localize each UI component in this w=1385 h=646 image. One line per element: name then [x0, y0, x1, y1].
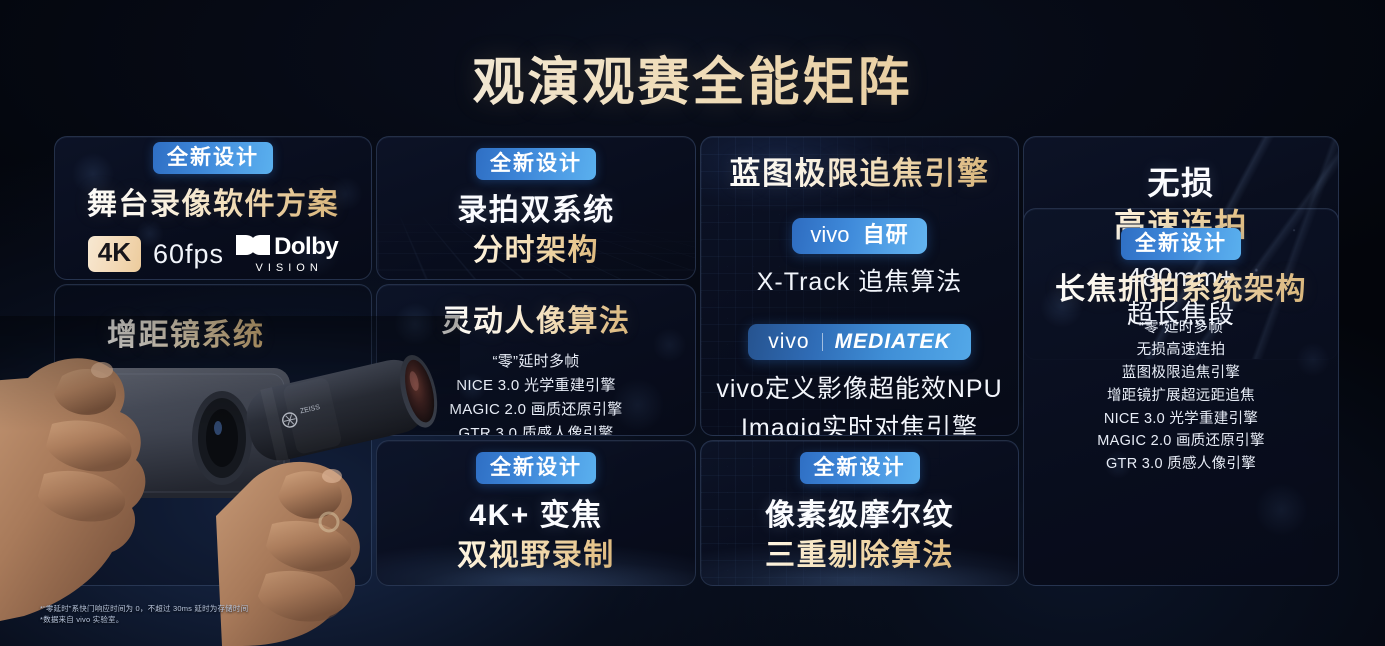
list-item: GTR 3.0 质感人像引擎: [1097, 453, 1265, 476]
list-item: 增距镜扩展超远距追焦: [1097, 385, 1265, 408]
card-title-focus-engine: 蓝图极限追焦引擎: [730, 155, 990, 194]
moire-line-2: 三重剔除算法: [765, 538, 954, 574]
badge-vivo-self-developed: vivo 自研: [792, 218, 926, 254]
badge-new-design: 全新设计: [153, 142, 273, 174]
footnote-line-1: *“零延时”系快门响应时间为 0，不超过 30ms 延时为存储时间: [40, 603, 248, 615]
badge-new-design: 全新设计: [800, 452, 920, 484]
list-item: NICE 3.0 光学重建引擎: [449, 374, 622, 398]
moire-line-1: 像素级摩尔纹: [765, 498, 954, 534]
self-developed-label: 自研: [863, 222, 909, 247]
card-tele-capture[interactable]: 全新设计 长焦抓拍系统架构 “零”延时多帧 无损高速连拍 蓝图极限追焦引擎 增距…: [1023, 208, 1339, 586]
card-title-portrait-algorithm: 灵动人像算法: [442, 303, 631, 341]
npu-label-1: vivo定义影像超能效NPU: [716, 373, 1002, 406]
list-item: MAGIC 2.0 画质还原引擎: [449, 398, 622, 422]
card-moire[interactable]: 全新设计 像素级摩尔纹 三重剔除算法: [700, 440, 1019, 586]
list-item: “零”延时多帧: [449, 350, 622, 374]
vivo-wordmark: vivo: [810, 222, 849, 247]
fps-label: 60fps: [153, 237, 224, 272]
feature-grid: 全新设计 舞台录像软件方案 4K 60fps: [54, 136, 1331, 594]
badge-new-design: 全新设计: [476, 452, 596, 484]
dolby-vision-logo: Dolby VISION: [236, 234, 338, 274]
list-item: 蓝图极限追焦引擎: [1097, 362, 1265, 385]
list-item: 无损高速连拍: [1097, 339, 1265, 362]
footnote: *“零延时”系快门响应时间为 0，不超过 30ms 延时为存储时间 *数据来自 …: [40, 603, 248, 626]
xtrack-algorithm-label: X-Track 追焦算法: [757, 266, 963, 299]
vivo-wordmark: vivo: [768, 331, 809, 352]
list-item: GTR 3.0 质感人像引擎: [449, 422, 622, 436]
badge-vivo-mediatek: vivo MEDIATEK: [748, 324, 970, 360]
card-tele-converter[interactable]: 增距镜系统: [54, 284, 372, 586]
card-title-tele-converter: 增距镜系统: [107, 317, 265, 355]
dolby-wordmark: Dolby: [274, 235, 338, 259]
badge-4k: 4K: [88, 236, 141, 272]
badge-new-design: 全新设计: [1121, 228, 1241, 260]
card-dual-system[interactable]: 全新设计 录拍双系统 分时架构: [376, 136, 696, 280]
list-item: MAGIC 2.0 画质还原引擎: [1097, 430, 1265, 453]
slide-root: 观演观赛全能矩阵 全新设计 舞台录像软件方案 4K 60fps: [0, 0, 1385, 646]
dolby-double-d-icon: [236, 234, 270, 260]
burst-line-1: 无损: [1147, 164, 1214, 202]
dolby-vision-sub: VISION: [256, 263, 323, 274]
zoom-line-1: 4K+ 变焦: [469, 498, 602, 534]
zoom-line-2: 双视野录制: [457, 538, 615, 574]
card-title-stage-recording: 舞台录像软件方案: [87, 186, 339, 224]
card-line-dual-system-1: 录拍双系统: [457, 193, 615, 229]
npu-label-2: Imagiq实时对焦引擎: [741, 412, 978, 436]
card-4k-zoom[interactable]: 全新设计 4K+ 变焦 双视野录制: [376, 440, 696, 586]
card-focus-engine[interactable]: 蓝图极限追焦引擎 vivo 自研 X-Track 追焦算法 vivo MEDIA…: [700, 136, 1019, 436]
list-item: “零”延时多帧: [1097, 317, 1265, 340]
badge-divider: [822, 333, 823, 351]
mediatek-wordmark: MEDIATEK: [835, 331, 951, 352]
card-portrait-algorithm[interactable]: 灵动人像算法 “零”延时多帧 NICE 3.0 光学重建引擎 MAGIC 2.0…: [376, 284, 696, 436]
card-title-tele-capture: 长焦抓拍系统架构: [1055, 271, 1307, 309]
page-title: 观演观赛全能矩阵: [0, 54, 1385, 114]
footnote-line-2: *数据来自 vivo 实验室。: [40, 614, 248, 626]
card-line-dual-system-2: 分时架构: [473, 233, 599, 269]
badge-new-design: 全新设计: [476, 148, 596, 180]
card-stage-recording[interactable]: 全新设计 舞台录像软件方案 4K 60fps: [54, 136, 372, 280]
list-item: NICE 3.0 光学重建引擎: [1097, 408, 1265, 431]
